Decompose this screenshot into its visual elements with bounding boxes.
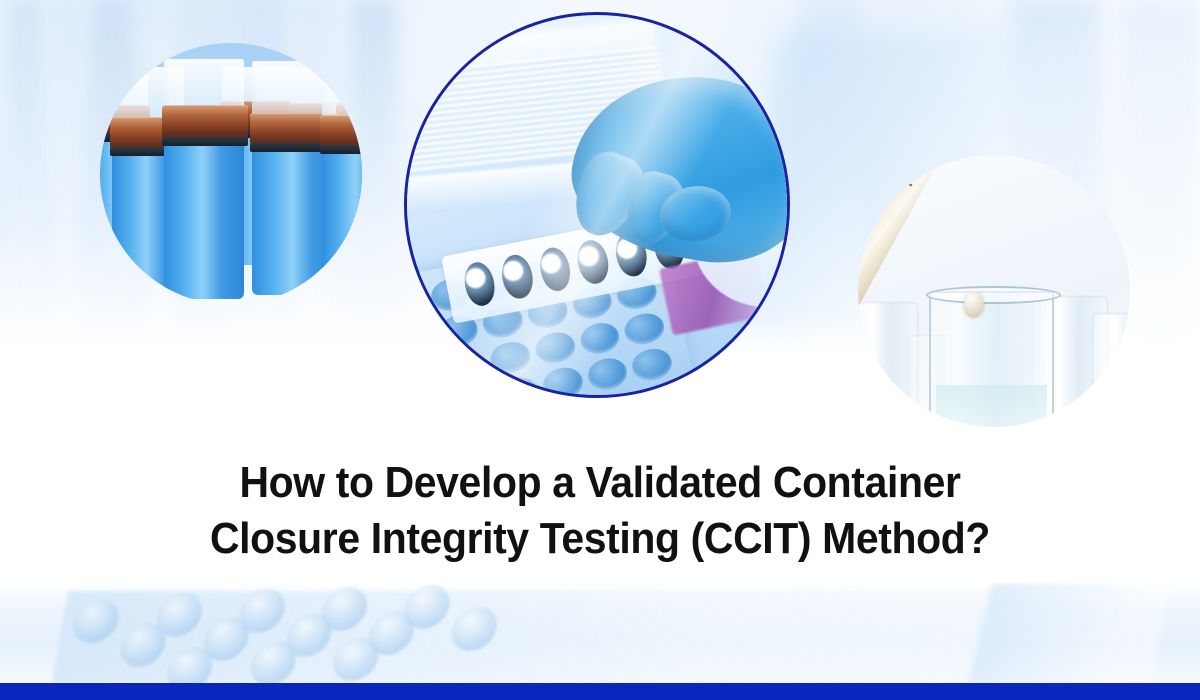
bottom-decorative-band bbox=[0, 583, 1200, 683]
lab-technician-photo bbox=[404, 12, 790, 398]
page-title: How to Develop a Validated Container Clo… bbox=[42, 455, 1158, 567]
title-line-1: How to Develop a Validated Container bbox=[42, 455, 1158, 511]
ccit-banner: How to Develop a Validated Container Clo… bbox=[0, 0, 1200, 700]
bottom-wells-decor bbox=[61, 597, 599, 683]
accent-bar bbox=[0, 683, 1200, 700]
pipette-photo bbox=[858, 155, 1130, 427]
vials-photo bbox=[100, 43, 362, 305]
title-line-2: Closure Integrity Testing (CCIT) Method? bbox=[42, 511, 1158, 567]
